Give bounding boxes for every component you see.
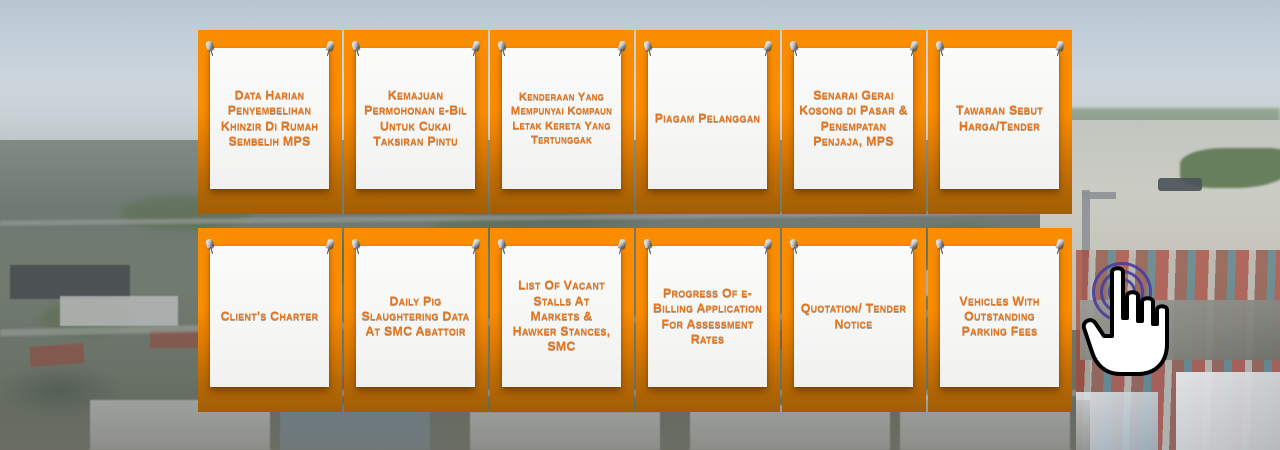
card-tile[interactable]: Data Harian Penyembelihan Khinzir Di Rum… (198, 30, 342, 214)
card-tile[interactable]: Kenderaan Yang Mempunyai Kompaun Letak K… (490, 30, 634, 214)
card-row-2: Client's Charter Daily Pig Slaughtering … (198, 228, 1078, 412)
card-tile[interactable]: Tawaran Sebut Harga/Tender (928, 30, 1072, 214)
rooftop (29, 343, 84, 367)
river-barge (1158, 178, 1202, 191)
card-grid: Data Harian Penyembelihan Khinzir Di Rum… (198, 30, 1078, 420)
card-label: Kemajuan Permohonan e-Bil Untuk Cukai Ta… (361, 88, 470, 149)
card-paper: Data Harian Penyembelihan Khinzir Di Rum… (210, 48, 329, 189)
card-label: Kenderaan Yang Mempunyai Kompaun Letak K… (507, 90, 616, 147)
wharf-shed (1080, 300, 1280, 360)
card-tile[interactable]: Daily Pig Slaughtering Data At SMC Abatt… (344, 228, 488, 412)
card-label: Tawaran Sebut Harga/Tender (945, 103, 1054, 133)
card-row-1: Data Harian Penyembelihan Khinzir Di Rum… (198, 30, 1078, 214)
card-label: Quotation/ Tender Notice (799, 301, 908, 331)
card-label: Vehicles With Outstanding Parking Fees (945, 294, 1054, 340)
card-paper: Progress Of e-Billing Application For As… (648, 246, 767, 387)
warehouse (1176, 372, 1280, 450)
card-tile[interactable]: Quotation/ Tender Notice (782, 228, 926, 412)
card-tile[interactable]: Progress Of e-Billing Application For As… (636, 228, 780, 412)
card-label: Piagam Pelanggan (653, 111, 762, 126)
card-label: List Of Vacant Stalls At Markets & Hawke… (507, 278, 616, 354)
card-paper: Tawaran Sebut Harga/Tender (940, 48, 1059, 189)
card-paper: Kenderaan Yang Mempunyai Kompaun Letak K… (502, 48, 621, 189)
card-tile[interactable]: List Of Vacant Stalls At Markets & Hawke… (490, 228, 634, 412)
card-label: Client's Charter (215, 309, 324, 324)
card-paper: Daily Pig Slaughtering Data At SMC Abatt… (356, 246, 475, 387)
card-paper: Quotation/ Tender Notice (794, 246, 913, 387)
card-paper: Kemajuan Permohonan e-Bil Untuk Cukai Ta… (356, 48, 475, 189)
card-label: Progress Of e-Billing Application For As… (653, 286, 762, 347)
card-label: Senarai Gerai Kosong di Pasar & Penempat… (799, 88, 908, 149)
port-crane-arm (1082, 192, 1116, 199)
card-tile[interactable]: Client's Charter (198, 228, 342, 412)
card-paper: List Of Vacant Stalls At Markets & Hawke… (502, 246, 621, 387)
card-tile[interactable]: Piagam Pelanggan (636, 30, 780, 214)
card-tile[interactable]: Senarai Gerai Kosong di Pasar & Penempat… (782, 30, 926, 214)
card-tile[interactable]: Vehicles With Outstanding Parking Fees (928, 228, 1072, 412)
card-paper: Vehicles With Outstanding Parking Fees (940, 246, 1059, 387)
screen: Data Harian Penyembelihan Khinzir Di Rum… (0, 0, 1280, 450)
rooftop (60, 296, 178, 326)
card-label: Data Harian Penyembelihan Khinzir Di Rum… (215, 88, 324, 149)
card-paper: Client's Charter (210, 246, 329, 387)
card-tile[interactable]: Kemajuan Permohonan e-Bil Untuk Cukai Ta… (344, 30, 488, 214)
card-paper: Piagam Pelanggan (648, 48, 767, 189)
rooftop (10, 265, 130, 299)
card-paper: Senarai Gerai Kosong di Pasar & Penempat… (794, 48, 913, 189)
card-label: Daily Pig Slaughtering Data At SMC Abatt… (361, 294, 470, 340)
